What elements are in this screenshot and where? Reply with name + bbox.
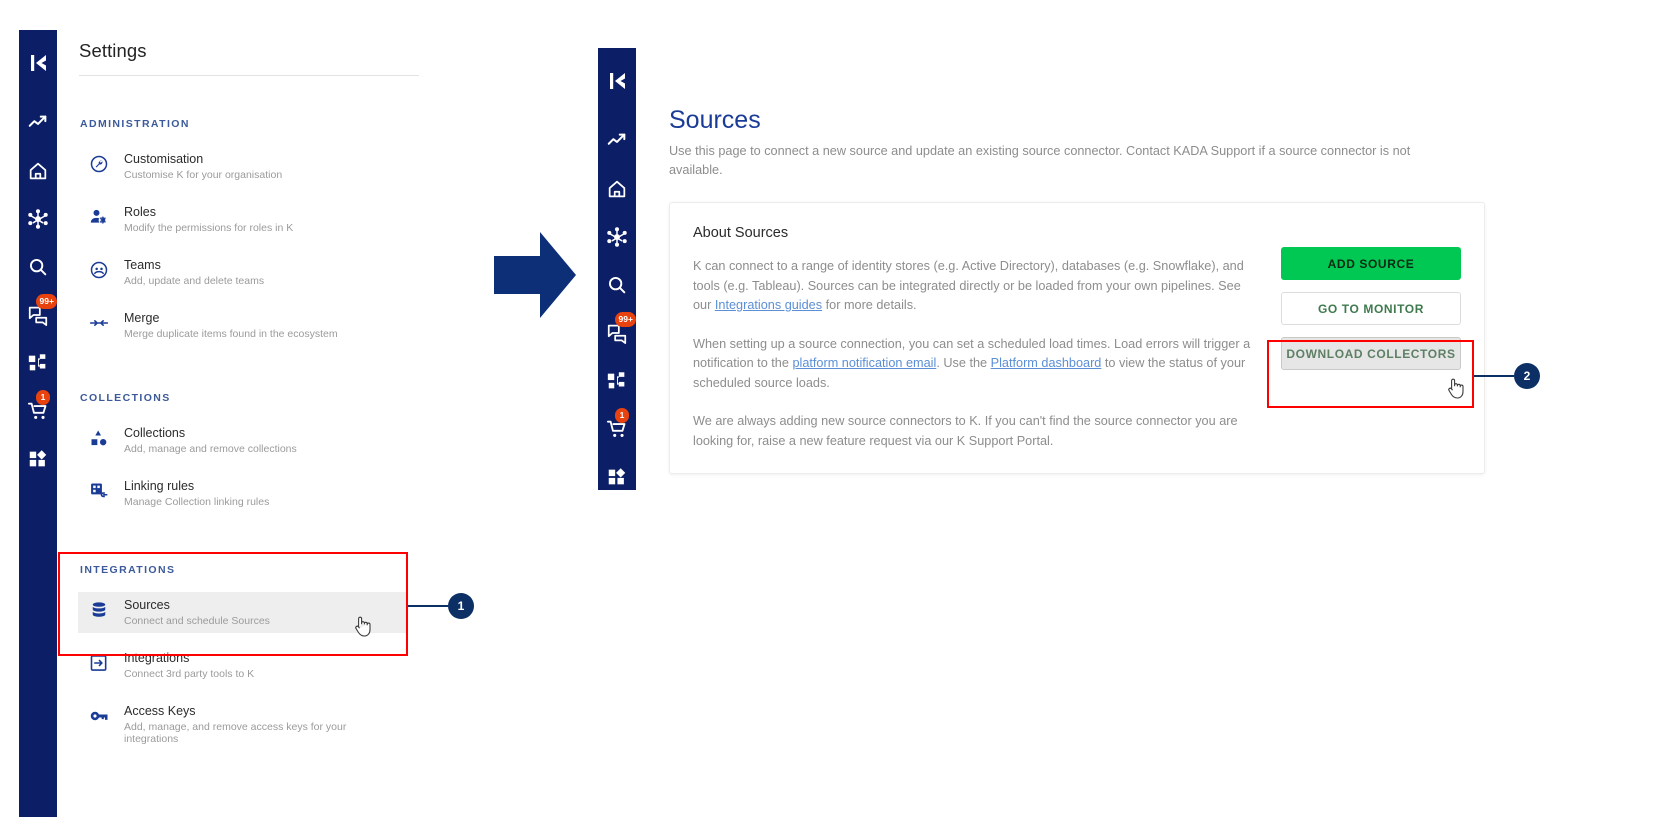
callout-leader-line bbox=[408, 605, 448, 607]
brand-logo-k[interactable] bbox=[23, 48, 53, 78]
flow-arrow-right-icon bbox=[492, 228, 578, 322]
settings-group-integrations: INTEGRATIONS Sources Connect and schedul… bbox=[58, 564, 408, 751]
sidebar-item-title: Access Keys bbox=[124, 704, 398, 718]
about-inline-link[interactable]: Integrations guides bbox=[715, 298, 822, 312]
trending-up-icon[interactable] bbox=[604, 128, 630, 154]
sidebar-item-merge[interactable]: Merge Merge duplicate items found in the… bbox=[78, 305, 408, 346]
feedback-chat-icon[interactable]: 99+ bbox=[25, 302, 51, 328]
sidebar-item-customisation[interactable]: Customisation Customise K for your organ… bbox=[78, 146, 408, 187]
page-title-settings: Settings bbox=[79, 40, 147, 62]
section-heading-integrations: INTEGRATIONS bbox=[80, 564, 408, 576]
sidebar-item-teams[interactable]: Teams Add, update and delete teams bbox=[78, 252, 408, 293]
sidebar-item-subtitle: Add, update and delete teams bbox=[124, 275, 264, 287]
sidebar-item-title: Sources bbox=[124, 598, 270, 612]
sidebar-item-subtitle: Add, manage, and remove access keys for … bbox=[124, 721, 398, 745]
annotation-callout-2: 2 bbox=[1474, 363, 1540, 389]
sidebar-item-title: Teams bbox=[124, 258, 264, 272]
about-sources-body: K can connect to a range of identity sto… bbox=[693, 257, 1253, 451]
sources-action-buttons: ADD SOURCE GO TO MONITOR DOWNLOAD COLLEC… bbox=[1281, 247, 1461, 370]
sidebar-item-subtitle: Manage Collection linking rules bbox=[124, 496, 269, 508]
about-sources-title: About Sources bbox=[693, 225, 788, 241]
add-source-button[interactable]: ADD SOURCE bbox=[1281, 247, 1461, 280]
dashboard-apps-icon[interactable] bbox=[25, 446, 51, 472]
about-paragraph: When setting up a source connection, you… bbox=[693, 335, 1253, 394]
section-heading-collections: COLLECTIONS bbox=[80, 392, 408, 404]
network-hub-icon[interactable] bbox=[604, 224, 630, 250]
rail-items-left: 99+ 1 bbox=[19, 110, 57, 472]
cart-badge: 1 bbox=[615, 408, 629, 423]
database-icon bbox=[88, 599, 110, 621]
sidebar-item-title: Customisation bbox=[124, 152, 282, 166]
download-collectors-button[interactable]: DOWNLOAD COLLECTORS bbox=[1281, 337, 1461, 370]
title-divider bbox=[79, 75, 419, 76]
app-nav-rail-left: 99+ 1 bbox=[19, 30, 57, 817]
home-icon[interactable] bbox=[25, 158, 51, 184]
settings-group-collections: COLLECTIONS Collections Add, manage and … bbox=[58, 392, 408, 514]
sidebar-item-sources[interactable]: Sources Connect and schedule Sources bbox=[78, 592, 408, 633]
sidebar-item-subtitle: Connect 3rd party tools to K bbox=[124, 668, 254, 680]
linking-rules-icon bbox=[88, 480, 110, 502]
about-paragraph: K can connect to a range of identity sto… bbox=[693, 257, 1253, 316]
go-to-monitor-button[interactable]: GO TO MONITOR bbox=[1281, 292, 1461, 325]
cart-badge: 1 bbox=[36, 390, 50, 405]
person-gear-icon bbox=[88, 206, 110, 228]
sidebar-item-subtitle: Customise K for your organisation bbox=[124, 169, 282, 181]
shopping-cart-icon[interactable]: 1 bbox=[604, 416, 630, 442]
merge-arrows-icon bbox=[88, 312, 110, 334]
about-inline-link[interactable]: platform notification email bbox=[792, 356, 936, 370]
sidebar-item-title: Integrations bbox=[124, 651, 254, 665]
settings-group-administration: ADMINISTRATION Customisation Customise K… bbox=[58, 118, 408, 346]
sidebar-item-subtitle: Add, manage and remove collections bbox=[124, 443, 297, 455]
trending-up-icon[interactable] bbox=[25, 110, 51, 136]
about-paragraph: We are always adding new source connecto… bbox=[693, 412, 1253, 451]
network-hub-icon[interactable] bbox=[25, 206, 51, 232]
key-icon bbox=[88, 705, 110, 727]
wrench-circle-icon bbox=[88, 153, 110, 175]
teams-circle-icon bbox=[88, 259, 110, 281]
sidebar-item-title: Roles bbox=[124, 205, 293, 219]
callout-leader-line bbox=[1474, 375, 1514, 377]
sidebar-item-title: Collections bbox=[124, 426, 297, 440]
search-icon[interactable] bbox=[25, 254, 51, 280]
callout-step-number: 1 bbox=[448, 593, 474, 619]
sitemap-icon[interactable] bbox=[604, 368, 630, 394]
sidebar-item-access-keys[interactable]: Access Keys Add, manage, and remove acce… bbox=[78, 698, 408, 751]
shopping-cart-icon[interactable]: 1 bbox=[25, 398, 51, 424]
about-text-run: . Use the bbox=[936, 356, 990, 370]
brand-logo-k[interactable] bbox=[602, 66, 632, 96]
sidebar-item-title: Merge bbox=[124, 311, 338, 325]
sidebar-item-subtitle: Modify the permissions for roles in K bbox=[124, 222, 293, 234]
annotation-callout-1: 1 bbox=[408, 593, 474, 619]
sidebar-item-text: Customisation Customise K for your organ… bbox=[124, 152, 282, 181]
screenshot-root: 99+ 1 Settings ADMINISTRATION bbox=[0, 0, 1659, 817]
feedback-badge: 99+ bbox=[615, 312, 636, 327]
home-icon[interactable] bbox=[604, 176, 630, 202]
rail-items-right: 99+ 1 bbox=[598, 128, 636, 490]
feedback-badge: 99+ bbox=[36, 294, 57, 309]
sidebar-item-roles[interactable]: Roles Modify the permissions for roles i… bbox=[78, 199, 408, 240]
section-heading-administration: ADMINISTRATION bbox=[80, 118, 408, 130]
dashboard-apps-icon[interactable] bbox=[604, 464, 630, 490]
sidebar-item-subtitle: Merge duplicate items found in the ecosy… bbox=[124, 328, 338, 340]
shapes-icon bbox=[88, 427, 110, 449]
sidebar-item-subtitle: Connect and schedule Sources bbox=[124, 615, 270, 627]
search-icon[interactable] bbox=[604, 272, 630, 298]
about-text-run: for more details. bbox=[822, 298, 917, 312]
mouse-cursor-pointer bbox=[353, 614, 373, 640]
app-nav-rail-right: 99+ 1 bbox=[598, 48, 636, 490]
about-sources-card: About Sources K can connect to a range o… bbox=[669, 202, 1485, 474]
feedback-chat-icon[interactable]: 99+ bbox=[604, 320, 630, 346]
about-inline-link[interactable]: Platform dashboard bbox=[991, 356, 1102, 370]
sidebar-item-collections[interactable]: Collections Add, manage and remove colle… bbox=[78, 420, 408, 461]
integrations-arrow-icon bbox=[88, 652, 110, 674]
sources-intro-text: Use this page to connect a new source an… bbox=[669, 142, 1459, 180]
sidebar-item-integrations[interactable]: Integrations Connect 3rd party tools to … bbox=[78, 645, 408, 686]
page-title-sources: Sources bbox=[669, 106, 761, 135]
about-text-run: We are always adding new source connecto… bbox=[693, 414, 1238, 448]
sidebar-item-title: Linking rules bbox=[124, 479, 269, 493]
sidebar-item-linking-rules[interactable]: Linking rules Manage Collection linking … bbox=[78, 473, 408, 514]
sources-panel: Sources Use this page to connect a new s… bbox=[636, 48, 1659, 817]
callout-step-number: 2 bbox=[1514, 363, 1540, 389]
sitemap-icon[interactable] bbox=[25, 350, 51, 376]
